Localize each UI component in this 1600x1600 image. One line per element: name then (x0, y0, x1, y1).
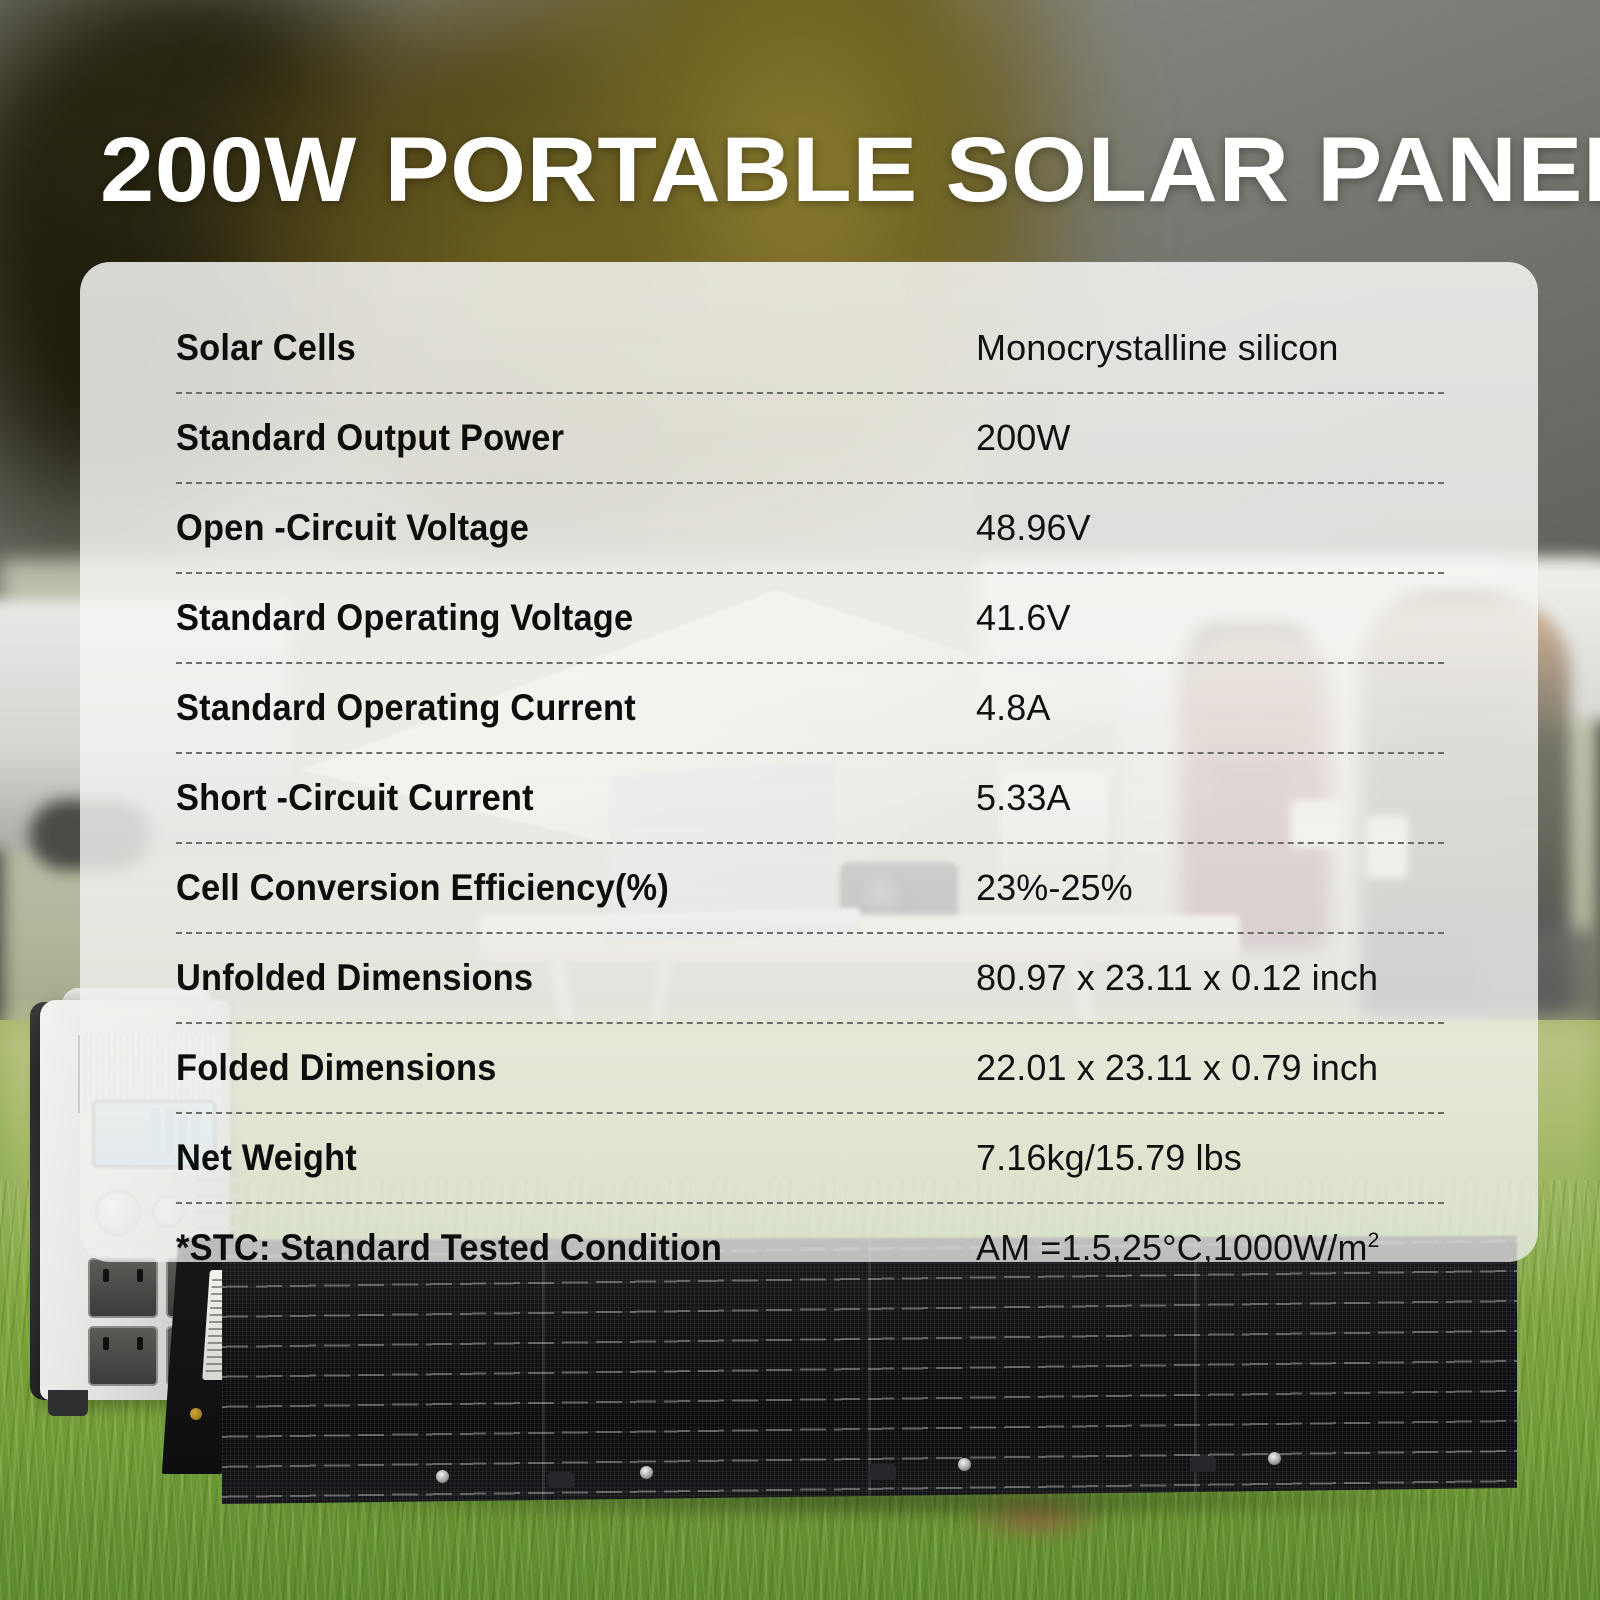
spec-row: Open -Circuit Voltage48.96V (176, 484, 1444, 574)
product-infographic: 200W PORTABLE SOLAR PANEL Solar CellsMon… (0, 0, 1600, 1600)
spec-label: Net Weight (176, 1137, 920, 1179)
spec-value: 22.01 x 23.11 x 0.79 inch (976, 1047, 1444, 1089)
spec-value: 7.16kg/15.79 lbs (976, 1137, 1444, 1179)
spec-label: *STC: Standard Tested Condition (176, 1227, 920, 1269)
power-station-foot-left (48, 1390, 88, 1416)
ac-socket (88, 1326, 158, 1386)
solar-panel-grommet (640, 1466, 653, 1479)
spec-panel: Solar CellsMonocrystalline siliconStanda… (80, 262, 1538, 1262)
solar-panel-clip (1190, 1456, 1216, 1472)
spec-value: 23%-25% (976, 867, 1444, 909)
spec-value: 41.6V (976, 597, 1444, 639)
spec-value: 48.96V (976, 507, 1444, 549)
spec-value: Monocrystalline silicon (976, 327, 1444, 369)
solar-panel-clip (870, 1464, 896, 1480)
spec-label: Short -Circuit Current (176, 777, 920, 819)
spec-row: Standard Operating Current4.8A (176, 664, 1444, 754)
spec-row: Cell Conversion Efficiency(%)23%-25% (176, 844, 1444, 934)
spec-label: Standard Operating Voltage (176, 597, 920, 639)
spec-value: 80.97 x 23.11 x 0.12 inch (976, 957, 1444, 999)
ac-socket (88, 1258, 158, 1318)
spec-value-superscript: 2 (1368, 1229, 1380, 1252)
spec-label: Unfolded Dimensions (176, 957, 920, 999)
spec-table: Solar CellsMonocrystalline siliconStanda… (176, 304, 1444, 1292)
kickstand-screw (190, 1408, 202, 1420)
spec-label: Standard Operating Current (176, 687, 920, 729)
spec-value: AM =1.5,25°C,1000W/m2 (976, 1227, 1444, 1269)
spec-row: Standard Output Power200W (176, 394, 1444, 484)
spec-value: 4.8A (976, 687, 1444, 729)
page-title: 200W PORTABLE SOLAR PANEL (100, 122, 1600, 218)
spec-row: Solar CellsMonocrystalline silicon (176, 304, 1444, 394)
solar-panel-grommet (436, 1470, 449, 1483)
spec-label: Open -Circuit Voltage (176, 507, 920, 549)
spec-row: Net Weight7.16kg/15.79 lbs (176, 1114, 1444, 1204)
spec-row: Unfolded Dimensions80.97 x 23.11 x 0.12 … (176, 934, 1444, 1024)
solar-panel-grommet (958, 1458, 971, 1471)
spec-row: Standard Operating Voltage41.6V (176, 574, 1444, 664)
solar-panel-grommet (1268, 1452, 1281, 1465)
spec-label: Solar Cells (176, 327, 920, 369)
spec-label: Standard Output Power (176, 417, 920, 459)
spec-label: Cell Conversion Efficiency(%) (176, 867, 920, 909)
spec-value: 5.33A (976, 777, 1444, 819)
spec-row: Short -Circuit Current5.33A (176, 754, 1444, 844)
spec-row: *STC: Standard Tested ConditionAM =1.5,2… (176, 1204, 1444, 1292)
spec-label: Folded Dimensions (176, 1047, 920, 1089)
spec-row: Folded Dimensions22.01 x 23.11 x 0.79 in… (176, 1024, 1444, 1114)
solar-panel-clip (548, 1472, 574, 1488)
spec-value: 200W (976, 417, 1444, 459)
